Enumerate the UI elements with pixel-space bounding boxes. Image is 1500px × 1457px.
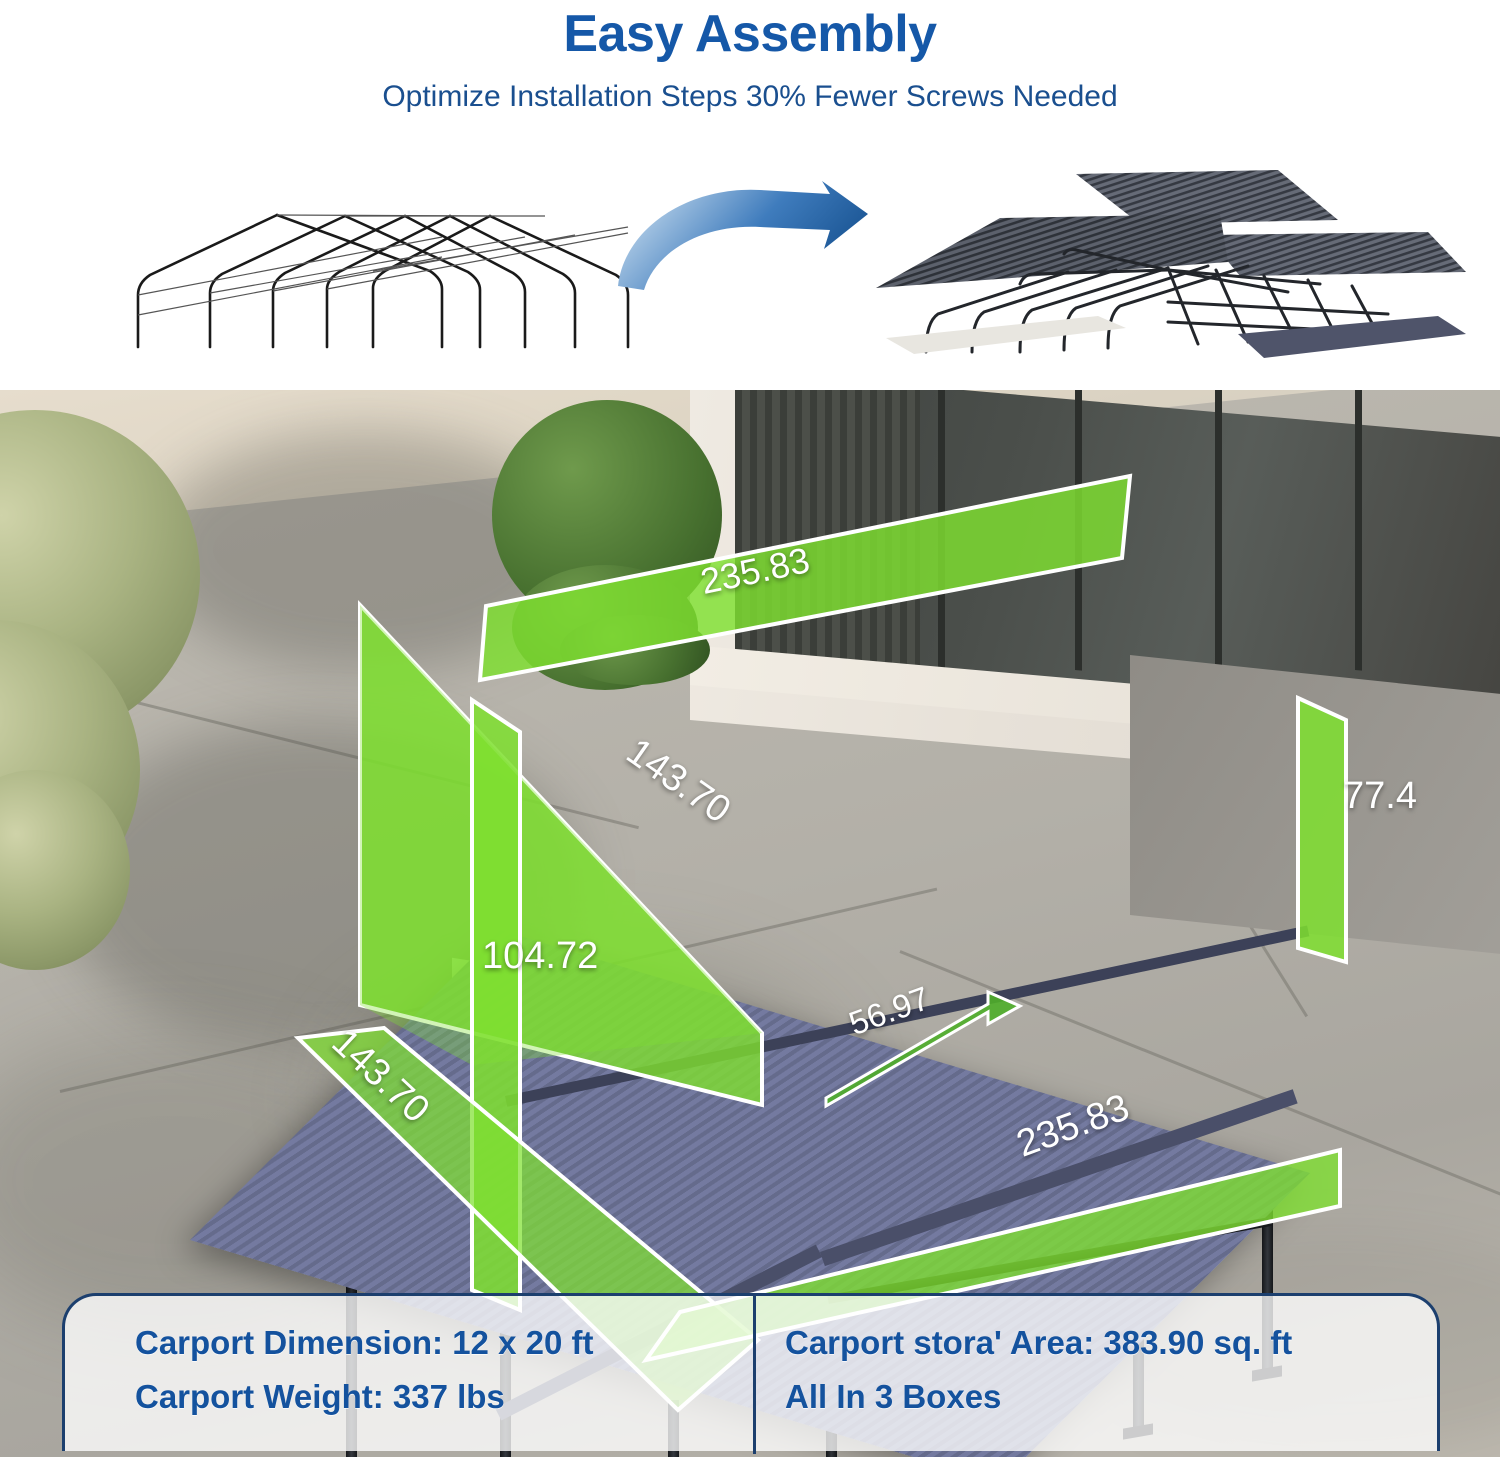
spec-carport-dimension: Carport Dimension: 12 x 20 ft <box>135 1316 593 1370</box>
dimension-label-post-height: 104.72 <box>482 935 598 978</box>
carport-exploded-roof-panels-illustration <box>868 162 1473 380</box>
product-infographic: Easy Assembly Optimize Installation Step… <box>0 0 1500 1457</box>
window-mullion <box>1355 390 1362 671</box>
spec-summary-box: Carport Dimension: 12 x 20 ft Carport We… <box>62 1293 1440 1451</box>
header-section: Easy Assembly Optimize Installation Step… <box>0 0 1500 390</box>
spec-box-divider <box>753 1296 756 1454</box>
carport-frame-skeleton-illustration <box>105 175 665 375</box>
spec-carport-weight: Carport Weight: 337 lbs <box>135 1370 593 1424</box>
spec-column-left: Carport Dimension: 12 x 20 ft Carport We… <box>135 1316 593 1424</box>
page-title: Easy Assembly <box>0 4 1500 64</box>
measure-plane-eave-height <box>1288 690 1358 970</box>
spec-box-count: All In 3 Boxes <box>785 1370 1292 1424</box>
curved-blue-arrow-icon <box>600 178 900 310</box>
page-subtitle: Optimize Installation Steps 30% Fewer Sc… <box>0 80 1500 114</box>
window-mullion <box>1215 390 1222 671</box>
spec-storage-area: Carport stora' Area: 383.90 sq. ft <box>785 1316 1292 1370</box>
spec-column-right: Carport stora' Area: 383.90 sq. ft All I… <box>785 1316 1292 1424</box>
dimension-label-eave-height: 77.4 <box>1343 775 1417 818</box>
